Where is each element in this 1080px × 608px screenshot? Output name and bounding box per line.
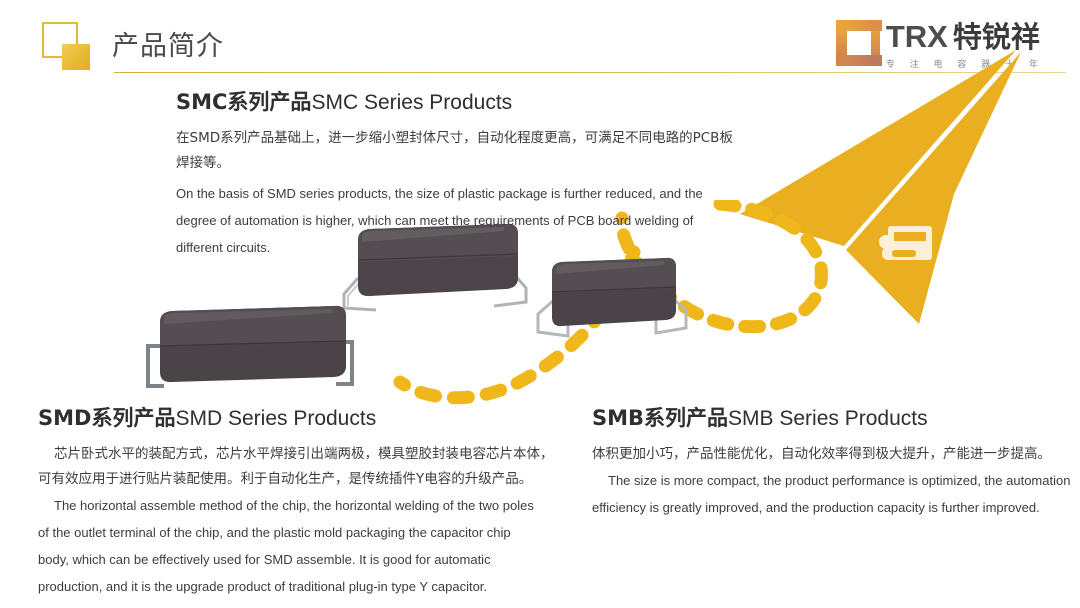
smd-cn-line: 可有效应用于进行贴片装配使用。利于自动化生产，是传统插件Y电容的升级产品。 bbox=[38, 467, 558, 492]
section-smc: SMC系列产品SMC Series Products 在SMD系列产品基础上，进… bbox=[176, 86, 776, 261]
smc-en-line: different circuits. bbox=[176, 234, 776, 261]
smb-cn-line: 体积更加小巧，产品性能优化，自动化效率得到极大提升，产能进一步提高。 bbox=[592, 442, 1062, 467]
smd-title-cn: SMD系列产品 bbox=[38, 406, 175, 430]
section-smd: SMD系列产品SMD Series Products 芯片卧式水平的装配方式，芯… bbox=[38, 402, 558, 600]
smd-cn-paragraph: 芯片卧式水平的装配方式，芯片水平焊接引出端两极，模具塑胶封装电容芯片本体， 可有… bbox=[38, 442, 558, 492]
smd-title: SMD系列产品SMD Series Products bbox=[38, 402, 558, 432]
smc-en-paragraph: On the basis of SMD series products, the… bbox=[176, 180, 776, 261]
smd-body bbox=[160, 306, 346, 382]
smd-title-en: SMD Series Products bbox=[175, 407, 376, 430]
section-smb: SMB系列产品SMB Series Products 体积更加小巧，产品性能优化… bbox=[592, 402, 1062, 521]
smc-en-line: On the basis of SMD series products, the… bbox=[176, 180, 776, 207]
smd-en-paragraph: The horizontal assemble method of the ch… bbox=[38, 492, 558, 600]
smb-en-line: efficiency is greatly improved, and the … bbox=[592, 494, 1062, 521]
page-title: 产品简介 bbox=[112, 24, 224, 63]
smd-en-line: production, and it is the upgrade produc… bbox=[38, 573, 558, 600]
smc-cn-paragraph: 在SMD系列产品基础上，进一步缩小塑封体尺寸，自动化程度更高，可满足不同电路的P… bbox=[176, 126, 776, 176]
smd-cn-line: 芯片卧式水平的装配方式，芯片水平焊接引出端两极，模具塑胶封装电容芯片本体， bbox=[38, 442, 558, 467]
smb-cn-paragraph: 体积更加小巧，产品性能优化，自动化效率得到极大提升，产能进一步提高。 bbox=[592, 442, 1062, 467]
smb-body bbox=[552, 258, 676, 326]
smc-title: SMC系列产品SMC Series Products bbox=[176, 86, 776, 116]
smb-en-line: The size is more compact, the product pe… bbox=[592, 467, 1062, 494]
smc-title-en: SMC Series Products bbox=[311, 91, 512, 114]
smd-capacitor-svg bbox=[138, 304, 368, 400]
smc-cn-line: 在SMD系列产品基础上，进一步缩小塑封体尺寸，自动化程度更高，可满足不同电路的P… bbox=[176, 126, 776, 151]
smb-title: SMB系列产品SMB Series Products bbox=[592, 402, 1062, 432]
smd-en-line: body, which can be effectively used for … bbox=[38, 546, 558, 573]
smb-en-paragraph: The size is more compact, the product pe… bbox=[592, 467, 1062, 521]
smd-en-line: The horizontal assemble method of the ch… bbox=[38, 492, 558, 519]
smc-title-cn: SMC系列产品 bbox=[176, 90, 311, 114]
smb-capacitor-image bbox=[528, 256, 698, 353]
square-overlap-icon bbox=[42, 22, 94, 70]
smb-title-cn: SMB系列产品 bbox=[592, 406, 728, 430]
smd-capacitor-image bbox=[138, 304, 368, 405]
smb-capacitor-svg bbox=[528, 256, 698, 348]
smd-en-line: of the outlet terminal of the chip, and … bbox=[38, 519, 558, 546]
smc-cn-line: 焊接等。 bbox=[176, 151, 776, 176]
smc-en-line: degree of automation is higher, which ca… bbox=[176, 207, 776, 234]
slide-canvas: 产品简介 TRX 特锐祥 专 注 电 容 器 十 年 bbox=[0, 0, 1080, 608]
square-filled-shape bbox=[62, 44, 90, 70]
smb-title-en: SMB Series Products bbox=[728, 407, 928, 430]
